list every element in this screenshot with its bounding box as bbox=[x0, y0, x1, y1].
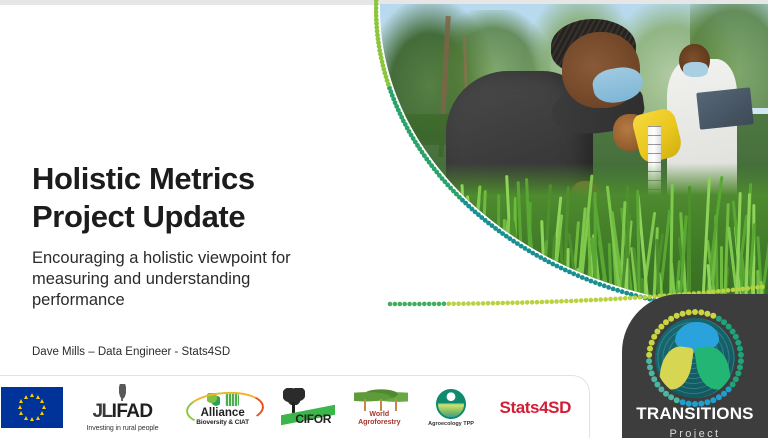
eu-star-icon bbox=[19, 411, 23, 415]
border-dot bbox=[432, 167, 437, 172]
border-dot bbox=[624, 291, 629, 296]
eu-flag-icon bbox=[1, 387, 63, 428]
border-dot bbox=[391, 97, 396, 102]
border-dot bbox=[448, 186, 453, 191]
border-dot bbox=[628, 296, 633, 301]
tree-trunk-icon bbox=[380, 399, 382, 411]
ring-dot bbox=[658, 324, 664, 330]
grass-blade bbox=[423, 224, 428, 310]
border-dot bbox=[424, 157, 429, 162]
border-dot bbox=[580, 275, 585, 280]
border-dot bbox=[564, 299, 569, 304]
agroecology-emblem-icon bbox=[436, 389, 466, 419]
border-dot bbox=[442, 302, 447, 307]
eu-star-icon bbox=[30, 417, 34, 421]
grass-blade bbox=[431, 189, 449, 310]
border-dot bbox=[454, 192, 459, 197]
grass-blade bbox=[426, 226, 434, 310]
grass-blade bbox=[405, 181, 417, 310]
ring-dot bbox=[647, 346, 653, 352]
border-dot bbox=[374, 17, 379, 22]
border-dot bbox=[451, 302, 456, 307]
ring-dot bbox=[721, 319, 727, 325]
grass-blade bbox=[381, 218, 387, 310]
grass-blade bbox=[479, 190, 487, 310]
border-dot bbox=[376, 37, 381, 42]
border-dot bbox=[429, 163, 434, 168]
border-dot bbox=[417, 302, 422, 307]
grass-blade bbox=[380, 235, 389, 310]
border-dot bbox=[497, 229, 502, 234]
photo-clipboard bbox=[696, 87, 754, 129]
presentation-slide: Holistic Metrics Project Update Encourag… bbox=[0, 0, 768, 438]
border-dot bbox=[515, 300, 520, 305]
border-dot bbox=[470, 207, 475, 212]
ring-dot bbox=[738, 358, 744, 364]
eu-star-icon bbox=[30, 393, 34, 397]
border-dot bbox=[542, 257, 547, 262]
grass-blade bbox=[507, 255, 511, 310]
border-dot bbox=[623, 296, 628, 301]
border-dot bbox=[422, 302, 427, 307]
grass-blade bbox=[406, 227, 409, 310]
border-dot bbox=[393, 302, 398, 307]
border-dot bbox=[602, 283, 607, 288]
border-dot bbox=[398, 111, 403, 116]
agroecology-tagline: Agroecology TPP bbox=[425, 421, 478, 427]
ring-dot bbox=[668, 316, 674, 322]
border-dot bbox=[493, 226, 498, 231]
grass-blade bbox=[402, 181, 411, 310]
border-dot bbox=[375, 33, 380, 38]
grass-blade bbox=[442, 257, 448, 310]
border-dot bbox=[437, 173, 442, 178]
ring-dot bbox=[698, 309, 704, 315]
border-dot bbox=[411, 136, 416, 141]
border-dot bbox=[457, 195, 462, 200]
grass-blade bbox=[566, 248, 570, 310]
border-dot bbox=[505, 301, 510, 306]
border-dot bbox=[471, 301, 476, 306]
ring-dot bbox=[647, 364, 653, 370]
grass-blade bbox=[466, 223, 471, 310]
ring-dot bbox=[692, 309, 698, 315]
grass-blade bbox=[429, 191, 445, 310]
ring-dot bbox=[668, 394, 674, 400]
field-landscape-icon bbox=[438, 405, 464, 417]
cifor-wordmark: CIFOR bbox=[295, 412, 331, 426]
grass-blade bbox=[419, 189, 435, 310]
border-dot bbox=[374, 13, 379, 18]
border-dot bbox=[559, 299, 564, 304]
border-dot bbox=[504, 234, 509, 239]
border-dot bbox=[500, 301, 505, 306]
border-dot bbox=[618, 296, 623, 301]
border-dot bbox=[538, 255, 543, 260]
ring-dot bbox=[674, 313, 680, 319]
ring-dot bbox=[716, 316, 722, 322]
grass-blade bbox=[469, 197, 481, 310]
ring-dot bbox=[646, 358, 652, 364]
grass-blade bbox=[417, 206, 434, 310]
grass-blade bbox=[393, 185, 410, 310]
border-dot bbox=[525, 300, 530, 305]
grass-blade bbox=[386, 274, 391, 310]
grass-blade bbox=[503, 219, 506, 310]
ring-dot bbox=[710, 313, 716, 319]
border-dot bbox=[476, 212, 481, 217]
border-dot bbox=[569, 299, 574, 304]
border-dot bbox=[574, 299, 579, 304]
border-dot bbox=[555, 264, 560, 269]
border-dot bbox=[380, 59, 385, 64]
border-dot bbox=[401, 119, 406, 124]
border-dot bbox=[388, 302, 393, 307]
transitions-sublabel: Project bbox=[622, 428, 768, 438]
logo-cifor: CIFOR bbox=[277, 386, 336, 430]
border-dot bbox=[374, 25, 379, 30]
border-dot bbox=[427, 160, 432, 165]
border-dot bbox=[549, 299, 554, 304]
border-dot bbox=[597, 282, 602, 287]
border-dot bbox=[393, 100, 398, 105]
border-dot bbox=[447, 302, 452, 307]
ring-dot bbox=[651, 376, 657, 382]
grass-blade bbox=[500, 219, 509, 310]
border-dot bbox=[384, 74, 389, 79]
logo-eu-flag bbox=[1, 387, 63, 428]
ring-dot bbox=[649, 340, 655, 346]
border-dot bbox=[386, 82, 391, 87]
page-subtitle: Encouraging a holistic viewpoint for mea… bbox=[32, 248, 332, 311]
border-dot bbox=[417, 146, 422, 151]
agroforestry-wordmark-line2: Agroforestry bbox=[350, 419, 409, 427]
grass-blade bbox=[459, 251, 470, 310]
border-dot bbox=[594, 298, 599, 303]
grass-blade bbox=[575, 277, 579, 310]
border-dot bbox=[638, 295, 643, 300]
tree-trunk-icon bbox=[364, 399, 366, 411]
eu-star-icon bbox=[36, 416, 40, 420]
border-dot bbox=[415, 143, 420, 148]
grass-blade bbox=[512, 280, 519, 310]
grass-blade bbox=[576, 268, 580, 310]
border-dot bbox=[611, 287, 616, 292]
border-dot bbox=[535, 300, 540, 305]
border-dot bbox=[396, 108, 401, 113]
grass-blade bbox=[406, 202, 423, 310]
grass-blade bbox=[381, 229, 391, 310]
border-dot bbox=[633, 293, 638, 298]
ring-dot bbox=[674, 397, 680, 403]
eu-star-icon bbox=[40, 411, 44, 415]
border-dot bbox=[432, 302, 437, 307]
border-dot bbox=[437, 302, 442, 307]
border-dot bbox=[473, 210, 478, 215]
eu-star-icon bbox=[42, 405, 46, 409]
transitions-globe-icon bbox=[655, 318, 735, 398]
photo-background-person-mask bbox=[683, 62, 708, 77]
grass-blade bbox=[396, 248, 406, 310]
border-dot bbox=[456, 301, 461, 306]
border-dot bbox=[530, 251, 535, 256]
grass-blade bbox=[438, 243, 441, 310]
photo-grass bbox=[380, 163, 768, 310]
ifad-lockup bbox=[87, 384, 159, 401]
border-dot bbox=[584, 277, 589, 282]
border-dot bbox=[377, 48, 382, 53]
border-dot bbox=[589, 279, 594, 284]
logo-ifad: JL IFAD Investing in rural people bbox=[79, 384, 166, 432]
border-dot bbox=[374, 10, 378, 15]
ifad-wordmark: IFAD bbox=[112, 401, 153, 423]
border-dot bbox=[407, 129, 412, 134]
author-line: Dave Mills – Data Engineer - Stats4SD bbox=[32, 346, 230, 358]
border-dot bbox=[496, 301, 501, 306]
page-title: Holistic Metrics Project Update bbox=[32, 160, 372, 236]
logo-world-agroforestry: World Agroforestry bbox=[350, 389, 409, 427]
border-dot bbox=[476, 301, 481, 306]
grass-blade bbox=[460, 184, 468, 310]
ring-dot bbox=[735, 370, 741, 376]
border-dot bbox=[589, 298, 594, 303]
agroforestry-trees-icon bbox=[350, 389, 409, 411]
partner-logo-row: JL IFAD Investing in rural people Allian… bbox=[1, 376, 571, 438]
grass-blade bbox=[484, 232, 494, 310]
grass-blade bbox=[501, 280, 507, 310]
border-dot bbox=[376, 40, 381, 45]
border-dot bbox=[633, 295, 638, 300]
ring-dot bbox=[680, 311, 686, 317]
border-dot bbox=[593, 280, 598, 285]
border-dot bbox=[576, 273, 581, 278]
border-dot bbox=[413, 140, 418, 145]
ring-dot bbox=[704, 311, 710, 317]
border-dot bbox=[463, 201, 468, 206]
ring-dot bbox=[737, 346, 743, 352]
border-dot bbox=[379, 56, 384, 61]
grass-blade bbox=[390, 241, 398, 310]
border-dot bbox=[374, 21, 379, 26]
ifad-tagline: Investing in rural people bbox=[87, 425, 159, 432]
eu-star-icon bbox=[36, 395, 40, 399]
grass-blade bbox=[414, 206, 427, 310]
border-dot bbox=[615, 288, 620, 293]
grass-blade bbox=[430, 226, 441, 310]
border-dot bbox=[638, 295, 643, 300]
border-dot bbox=[399, 115, 404, 120]
border-dot bbox=[378, 52, 383, 57]
ring-dot bbox=[710, 397, 716, 403]
ring-dot bbox=[735, 340, 741, 346]
border-dot bbox=[490, 223, 495, 228]
border-dot bbox=[620, 289, 625, 294]
border-dot bbox=[550, 262, 555, 267]
border-dot bbox=[374, 6, 378, 11]
border-dot bbox=[540, 300, 545, 305]
border-dot bbox=[451, 189, 456, 194]
border-dot bbox=[422, 153, 427, 158]
ring-dot bbox=[663, 391, 669, 397]
border-dot bbox=[481, 301, 486, 306]
border-dot bbox=[584, 298, 589, 303]
logo-stats4sd: Stats4SD bbox=[500, 398, 571, 418]
ring-dot bbox=[686, 309, 692, 315]
grass-blade bbox=[389, 246, 393, 310]
eu-star-icon bbox=[40, 399, 44, 403]
border-dot bbox=[613, 297, 618, 302]
ring-dot bbox=[730, 329, 736, 335]
eu-star-icon bbox=[18, 405, 22, 409]
grass-blade bbox=[544, 273, 552, 310]
grass-blade bbox=[427, 241, 435, 310]
border-dot bbox=[461, 301, 466, 306]
border-dot bbox=[427, 302, 432, 307]
grass-blade bbox=[433, 238, 440, 310]
ring-dot bbox=[738, 352, 744, 358]
grass-blade bbox=[388, 246, 392, 310]
grass-blade bbox=[507, 267, 514, 310]
ring-dot bbox=[716, 394, 722, 400]
border-dot bbox=[545, 300, 550, 305]
border-dot bbox=[523, 246, 528, 251]
border-dot bbox=[387, 86, 392, 91]
border-dot bbox=[515, 241, 520, 246]
border-dot bbox=[563, 268, 568, 273]
wheat-ear-icon bbox=[118, 384, 127, 401]
border-dot bbox=[511, 239, 516, 244]
border-dot bbox=[603, 297, 608, 302]
ring-dot bbox=[646, 352, 652, 358]
ring-dot bbox=[737, 364, 743, 370]
grass-blade bbox=[432, 260, 441, 310]
grass-blade bbox=[471, 267, 479, 310]
grass-blade bbox=[549, 236, 556, 310]
grass-blade bbox=[393, 245, 404, 310]
border-dot bbox=[466, 301, 471, 306]
border-dot bbox=[519, 244, 524, 249]
border-dot bbox=[608, 297, 613, 302]
ring-dot bbox=[663, 319, 669, 325]
border-dot bbox=[483, 218, 488, 223]
grass-blade bbox=[593, 192, 596, 310]
border-dot bbox=[546, 260, 551, 265]
grass-blade bbox=[467, 219, 472, 310]
ring-dot bbox=[733, 376, 739, 382]
border-dot bbox=[486, 301, 491, 306]
transitions-brand-panel: TRANSITIONS Project bbox=[622, 294, 768, 438]
border-dot bbox=[571, 271, 576, 276]
border-dot bbox=[407, 302, 412, 307]
border-dot bbox=[383, 71, 388, 76]
ifad-monogram: JL bbox=[92, 401, 111, 423]
border-dot bbox=[405, 126, 410, 131]
border-dot bbox=[530, 300, 535, 305]
border-dot bbox=[412, 302, 417, 307]
page-title-line-2: Project Update bbox=[32, 198, 372, 236]
border-dot bbox=[527, 248, 532, 253]
border-dot bbox=[403, 122, 408, 127]
grass-blade bbox=[433, 232, 438, 310]
border-dot bbox=[629, 292, 634, 297]
border-dot bbox=[598, 297, 603, 302]
page-title-line-1: Holistic Metrics bbox=[32, 160, 372, 198]
border-dot bbox=[409, 133, 414, 138]
grass-blade bbox=[486, 257, 489, 310]
grass-blade bbox=[505, 175, 515, 310]
border-dot bbox=[559, 266, 564, 271]
eu-star-icon bbox=[24, 395, 28, 399]
ring-dot bbox=[733, 334, 739, 340]
border-dot bbox=[460, 198, 465, 203]
transitions-wordmark: TRANSITIONS bbox=[622, 404, 768, 424]
grass-blade bbox=[497, 194, 500, 310]
border-dot bbox=[381, 63, 386, 68]
agroforestry-wordmark-line1: World bbox=[350, 411, 409, 419]
grass-blade bbox=[476, 280, 482, 310]
border-dot bbox=[643, 295, 648, 300]
transitions-emblem bbox=[643, 306, 747, 410]
border-dot bbox=[510, 301, 515, 306]
hero-photo bbox=[380, 4, 768, 310]
hero-photo-image bbox=[380, 4, 768, 310]
hero-photo-clip bbox=[380, 4, 768, 310]
border-dot bbox=[420, 150, 425, 155]
logo-agroecology-tpp: Agroecology TPP bbox=[425, 389, 478, 427]
ring-dot bbox=[726, 324, 732, 330]
border-dot bbox=[389, 89, 394, 94]
leaf-yellow-icon bbox=[658, 344, 694, 392]
grass-blade bbox=[457, 201, 469, 310]
border-dot bbox=[445, 183, 450, 188]
border-dot bbox=[486, 221, 491, 226]
border-dot bbox=[398, 302, 403, 307]
logo-alliance-bioversity-ciat: Alliance Bioversity & CIAT bbox=[182, 390, 263, 426]
border-dot bbox=[479, 215, 484, 220]
grass-blade bbox=[472, 252, 479, 310]
grass-blade bbox=[513, 197, 518, 310]
grass-blade bbox=[529, 265, 533, 310]
border-dot bbox=[375, 29, 380, 34]
grass-blade bbox=[516, 181, 524, 310]
grass-blade bbox=[466, 195, 479, 310]
border-dot bbox=[491, 301, 496, 306]
border-dot bbox=[500, 231, 505, 236]
border-dot bbox=[567, 270, 572, 275]
grass-blade bbox=[396, 211, 409, 310]
eu-star-icon bbox=[19, 399, 23, 403]
ring-dot bbox=[721, 391, 727, 397]
border-dot bbox=[643, 296, 648, 301]
border-dot bbox=[382, 67, 387, 72]
grass-blade bbox=[495, 274, 500, 310]
tree-trunk-icon bbox=[395, 399, 397, 411]
border-dot bbox=[534, 253, 539, 258]
border-dot bbox=[520, 300, 525, 305]
border-dot bbox=[579, 298, 584, 303]
ring-dot bbox=[649, 370, 655, 376]
border-dot bbox=[402, 302, 407, 307]
grass-blade bbox=[408, 282, 411, 310]
ring-dot bbox=[651, 334, 657, 340]
border-dot bbox=[434, 170, 439, 175]
border-dot bbox=[440, 176, 445, 181]
grass-blade bbox=[688, 186, 691, 310]
border-dot bbox=[385, 78, 390, 83]
border-dot bbox=[377, 44, 382, 49]
border-dot bbox=[390, 93, 395, 98]
border-dot bbox=[443, 179, 448, 184]
